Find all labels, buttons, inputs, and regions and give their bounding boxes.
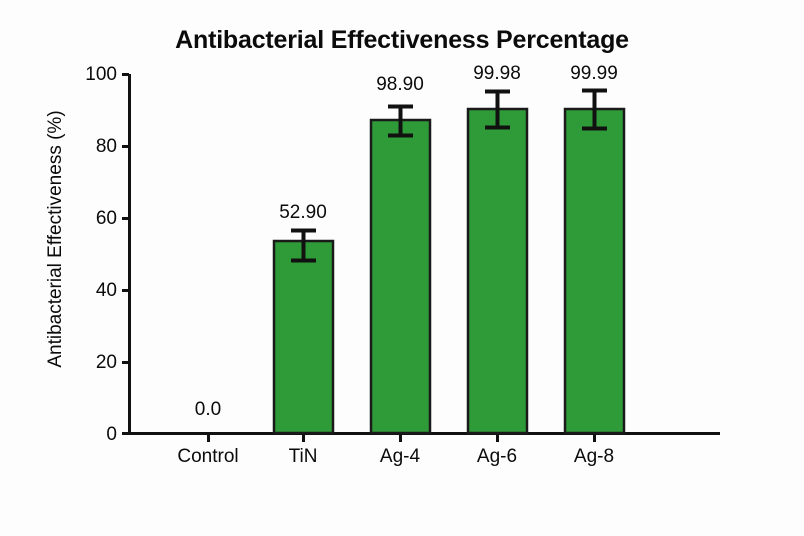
bar-ag8[interactable] bbox=[565, 109, 624, 433]
bar-series bbox=[274, 109, 624, 433]
plot-area bbox=[0, 0, 804, 536]
error-bars bbox=[291, 89, 607, 261]
bar-tin[interactable] bbox=[274, 241, 333, 433]
bar-ag4[interactable] bbox=[371, 120, 430, 433]
chart-figure: Antibacterial Effectiveness Percentage A… bbox=[0, 0, 804, 536]
bar-ag6[interactable] bbox=[468, 109, 527, 433]
x-axis-ticks bbox=[209, 434, 595, 442]
y-axis-ticks bbox=[122, 75, 129, 434]
